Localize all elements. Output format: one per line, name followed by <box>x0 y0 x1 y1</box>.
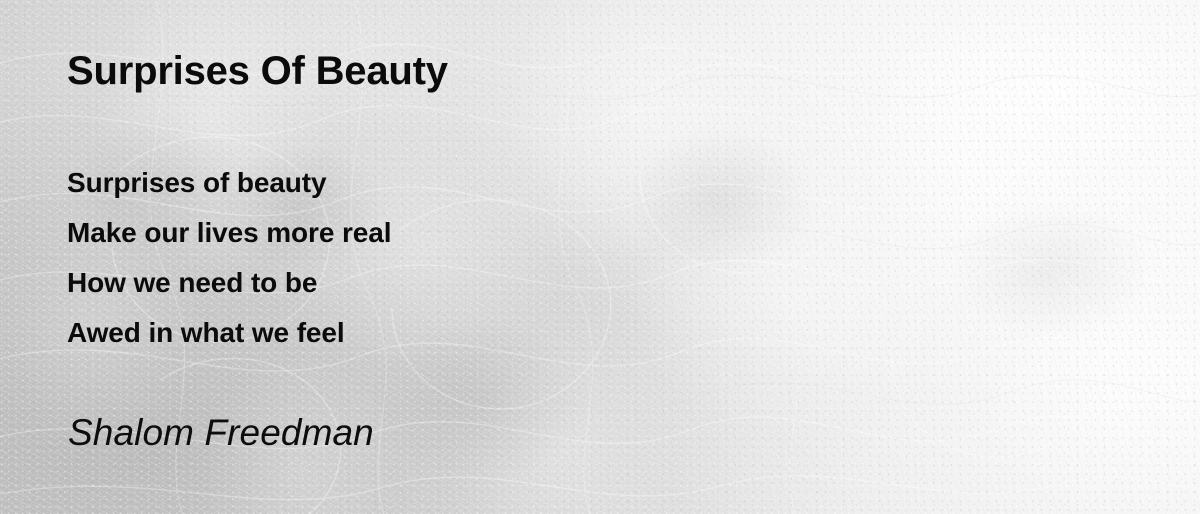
poem-title: Surprises Of Beauty <box>67 49 448 93</box>
poem-line: Awed in what we feel <box>67 308 391 358</box>
poem-author: Shalom Freedman <box>68 412 374 455</box>
poem-line: Surprises of beauty <box>67 158 391 208</box>
poem-line: How we need to be <box>67 258 391 308</box>
poem-body: Surprises of beauty Make our lives more … <box>67 158 391 358</box>
poem-line: Make our lives more real <box>67 208 391 258</box>
poem-image-card: Surprises Of Beauty Surprises of beauty … <box>0 0 1200 514</box>
